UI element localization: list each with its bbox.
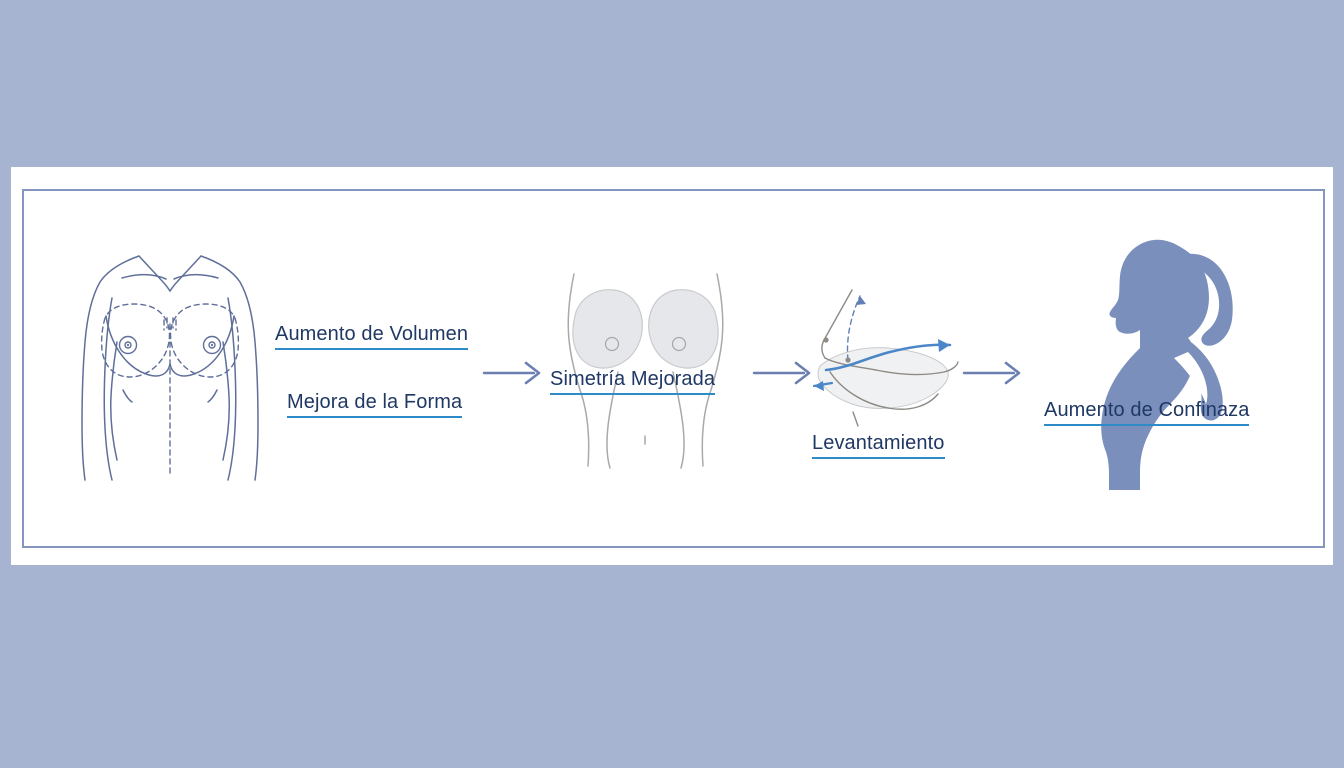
label-aumento-de-confianza: Aumento de Confinaza [1044, 400, 1249, 426]
nipple-marker-left [120, 337, 137, 354]
arrow-right-icon-3 [962, 360, 1026, 386]
arrow-right-icon-2 [752, 360, 816, 386]
implant-shape-right [649, 290, 718, 368]
label-mejora-de-la-forma: Mejora de la Forma [287, 392, 462, 418]
lift-arrow-head-icon [938, 339, 950, 352]
lift-marker-lower [845, 357, 850, 362]
arrow-right-icon-1 [482, 360, 546, 386]
woman-silhouette-figure [1082, 228, 1287, 490]
nipple-marker-right [204, 337, 221, 354]
label-simetria-mejorada: Simetría Mejorada [550, 369, 715, 395]
label-levantamiento: Levantamiento [812, 433, 945, 459]
lifted-breast-shape [818, 348, 948, 409]
breast-lift-figure [790, 288, 980, 428]
label-aumento-de-volumen: Aumento de Volumen [275, 324, 468, 350]
guide-arrowhead-icon [856, 296, 866, 305]
implant-shape-left [573, 290, 642, 368]
lift-marker-upper [823, 337, 828, 342]
torso-front-figure [60, 238, 280, 483]
